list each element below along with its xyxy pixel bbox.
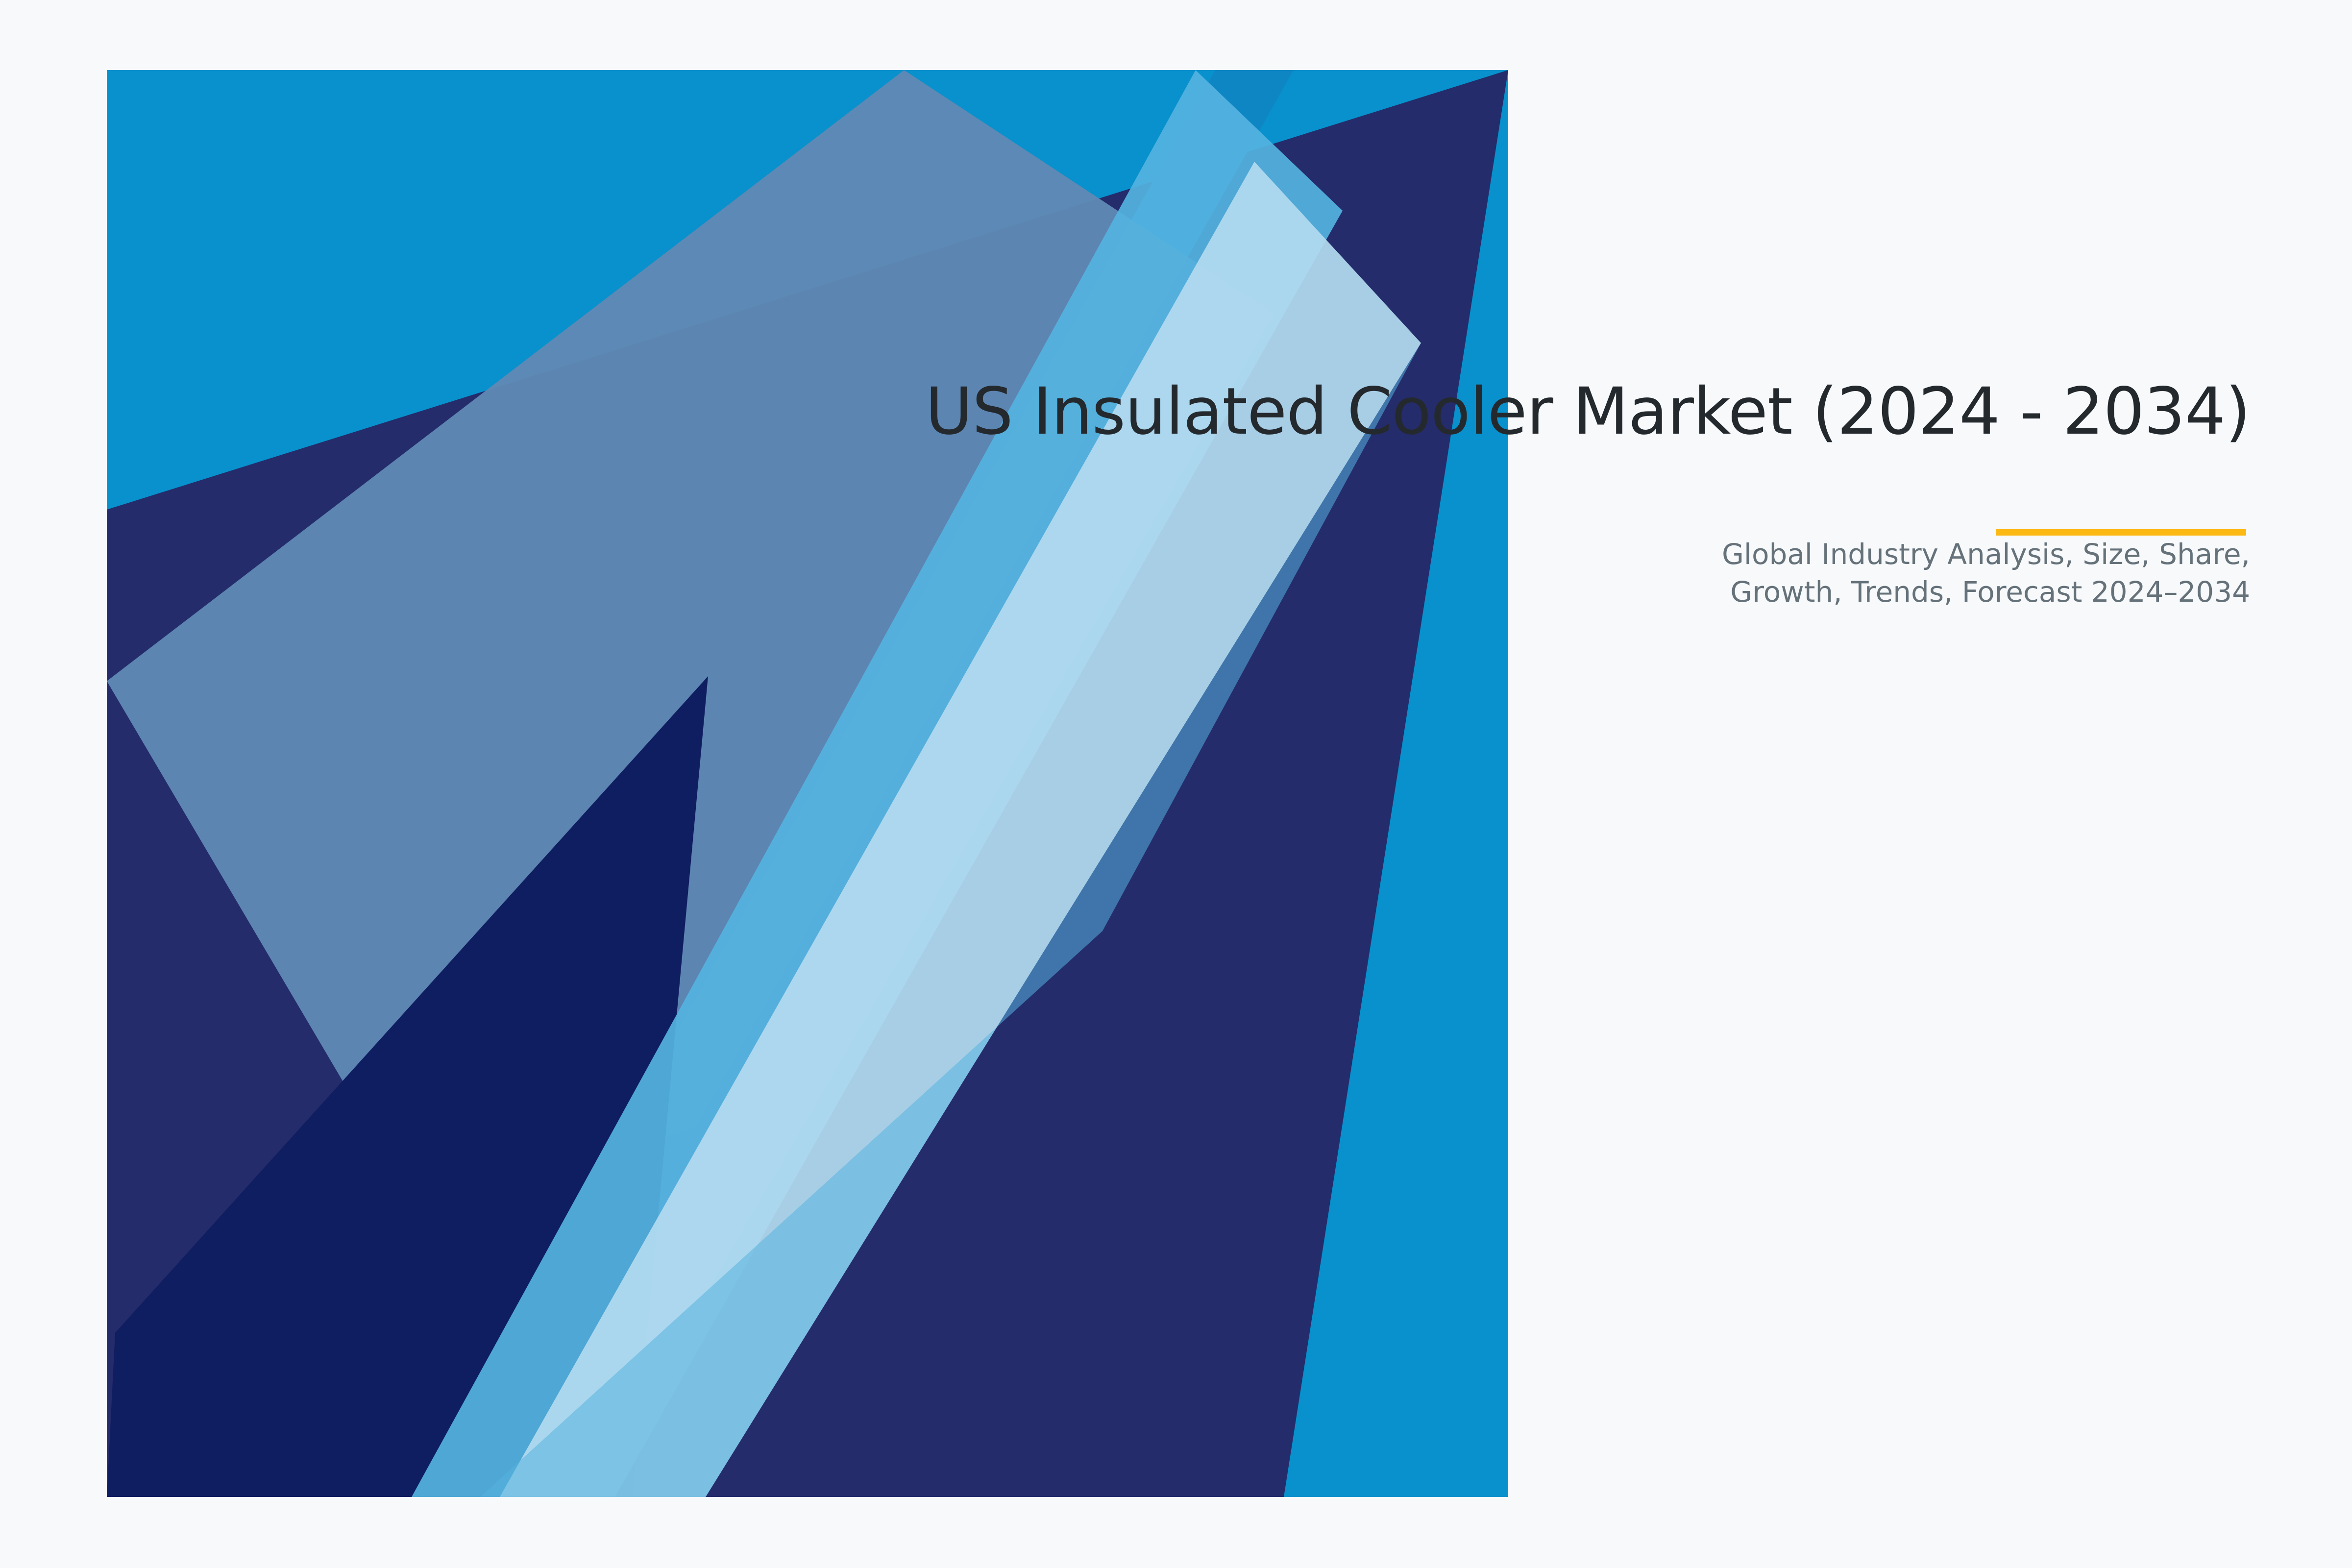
cover-slide: US Insulated Cooler Market (2024 - 2034)…: [0, 0, 2352, 1568]
cover-text-block: US Insulated Cooler Market (2024 - 2034)…: [829, 372, 2250, 611]
accent-underline-bar: [1996, 529, 2246, 536]
abstract-geometric-artwork: [0, 0, 2352, 1568]
title-wrapper: US Insulated Cooler Market (2024 - 2034): [829, 372, 2250, 451]
artwork-svg: [0, 0, 2352, 1568]
page-title: US Insulated Cooler Market (2024 - 2034): [829, 372, 2250, 451]
page-subtitle: Global Industry Analysis, Size, Share, G…: [1623, 536, 2250, 611]
